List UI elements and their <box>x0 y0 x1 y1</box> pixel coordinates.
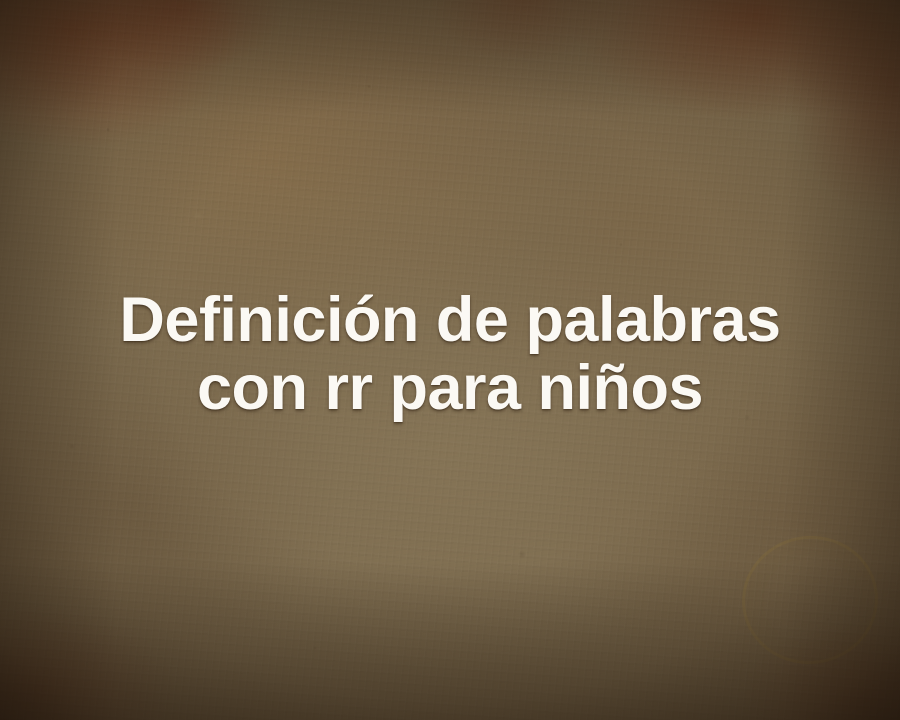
page-title-line-1: Definición de palabras <box>0 286 900 354</box>
ring-stain <box>734 527 886 673</box>
page-title: Definición de palabras con rr para niños <box>0 286 900 422</box>
title-card: Definición de palabras con rr para niños <box>0 0 900 720</box>
page-title-line-2: con rr para niños <box>0 354 900 422</box>
